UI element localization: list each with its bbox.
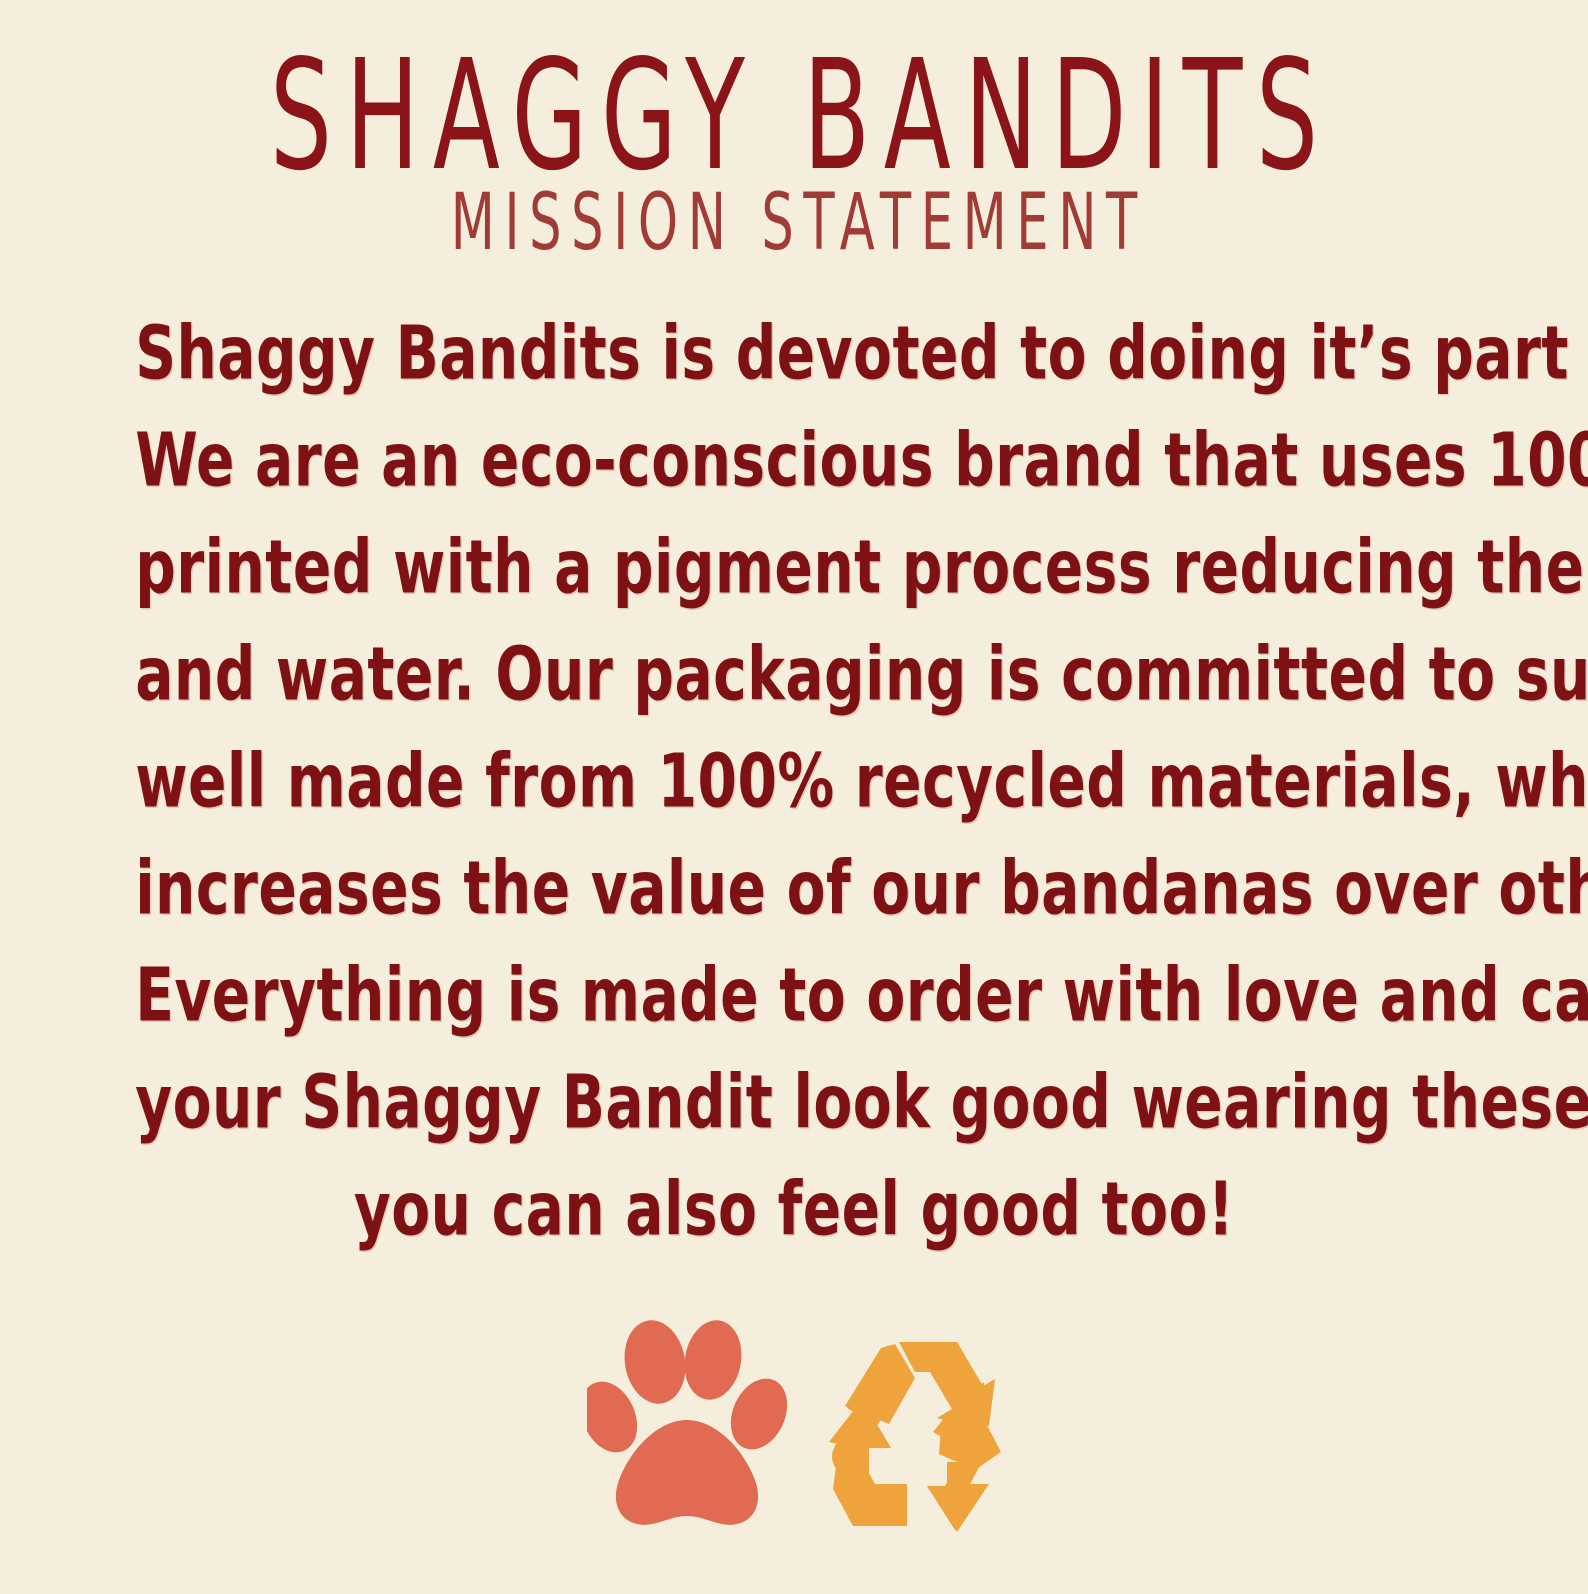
mission-statement-body: Shaggy Bandits is devoted to doing it’s …	[62, 300, 1526, 1263]
statement-line: Everything is made to order with love an…	[135, 939, 1453, 1052]
statement-line: printed with a pigment process reducing …	[135, 511, 1453, 624]
statement-line: Shaggy Bandits is devoted to doing it’s …	[135, 297, 1453, 410]
recycle-icon	[829, 1334, 1001, 1534]
statement-line: your Shaggy Bandit look good wearing the…	[135, 1046, 1453, 1159]
statement-line: increases the value of our bandanas over…	[135, 832, 1453, 945]
brand-title: SHAGGY BANDITS	[159, 0, 1429, 193]
paw-print-icon	[587, 1314, 787, 1532]
statement-line: well made from 100% recycled materials, …	[135, 725, 1453, 838]
statement-line: and water. Our packaging is committed to…	[135, 618, 1453, 731]
statement-line: We are an eco-conscious brand that uses …	[135, 404, 1453, 517]
poster-header: SHAGGY BANDITS MISSION STATEMENT	[0, 0, 1588, 253]
statement-line: you can also feel good too!	[135, 1153, 1453, 1266]
mission-statement-poster: SHAGGY BANDITS MISSION STATEMENT Shaggy …	[0, 0, 1588, 1594]
footer-icon-row	[0, 1312, 1588, 1534]
page-subtitle: MISSION STATEMENT	[159, 172, 1429, 261]
